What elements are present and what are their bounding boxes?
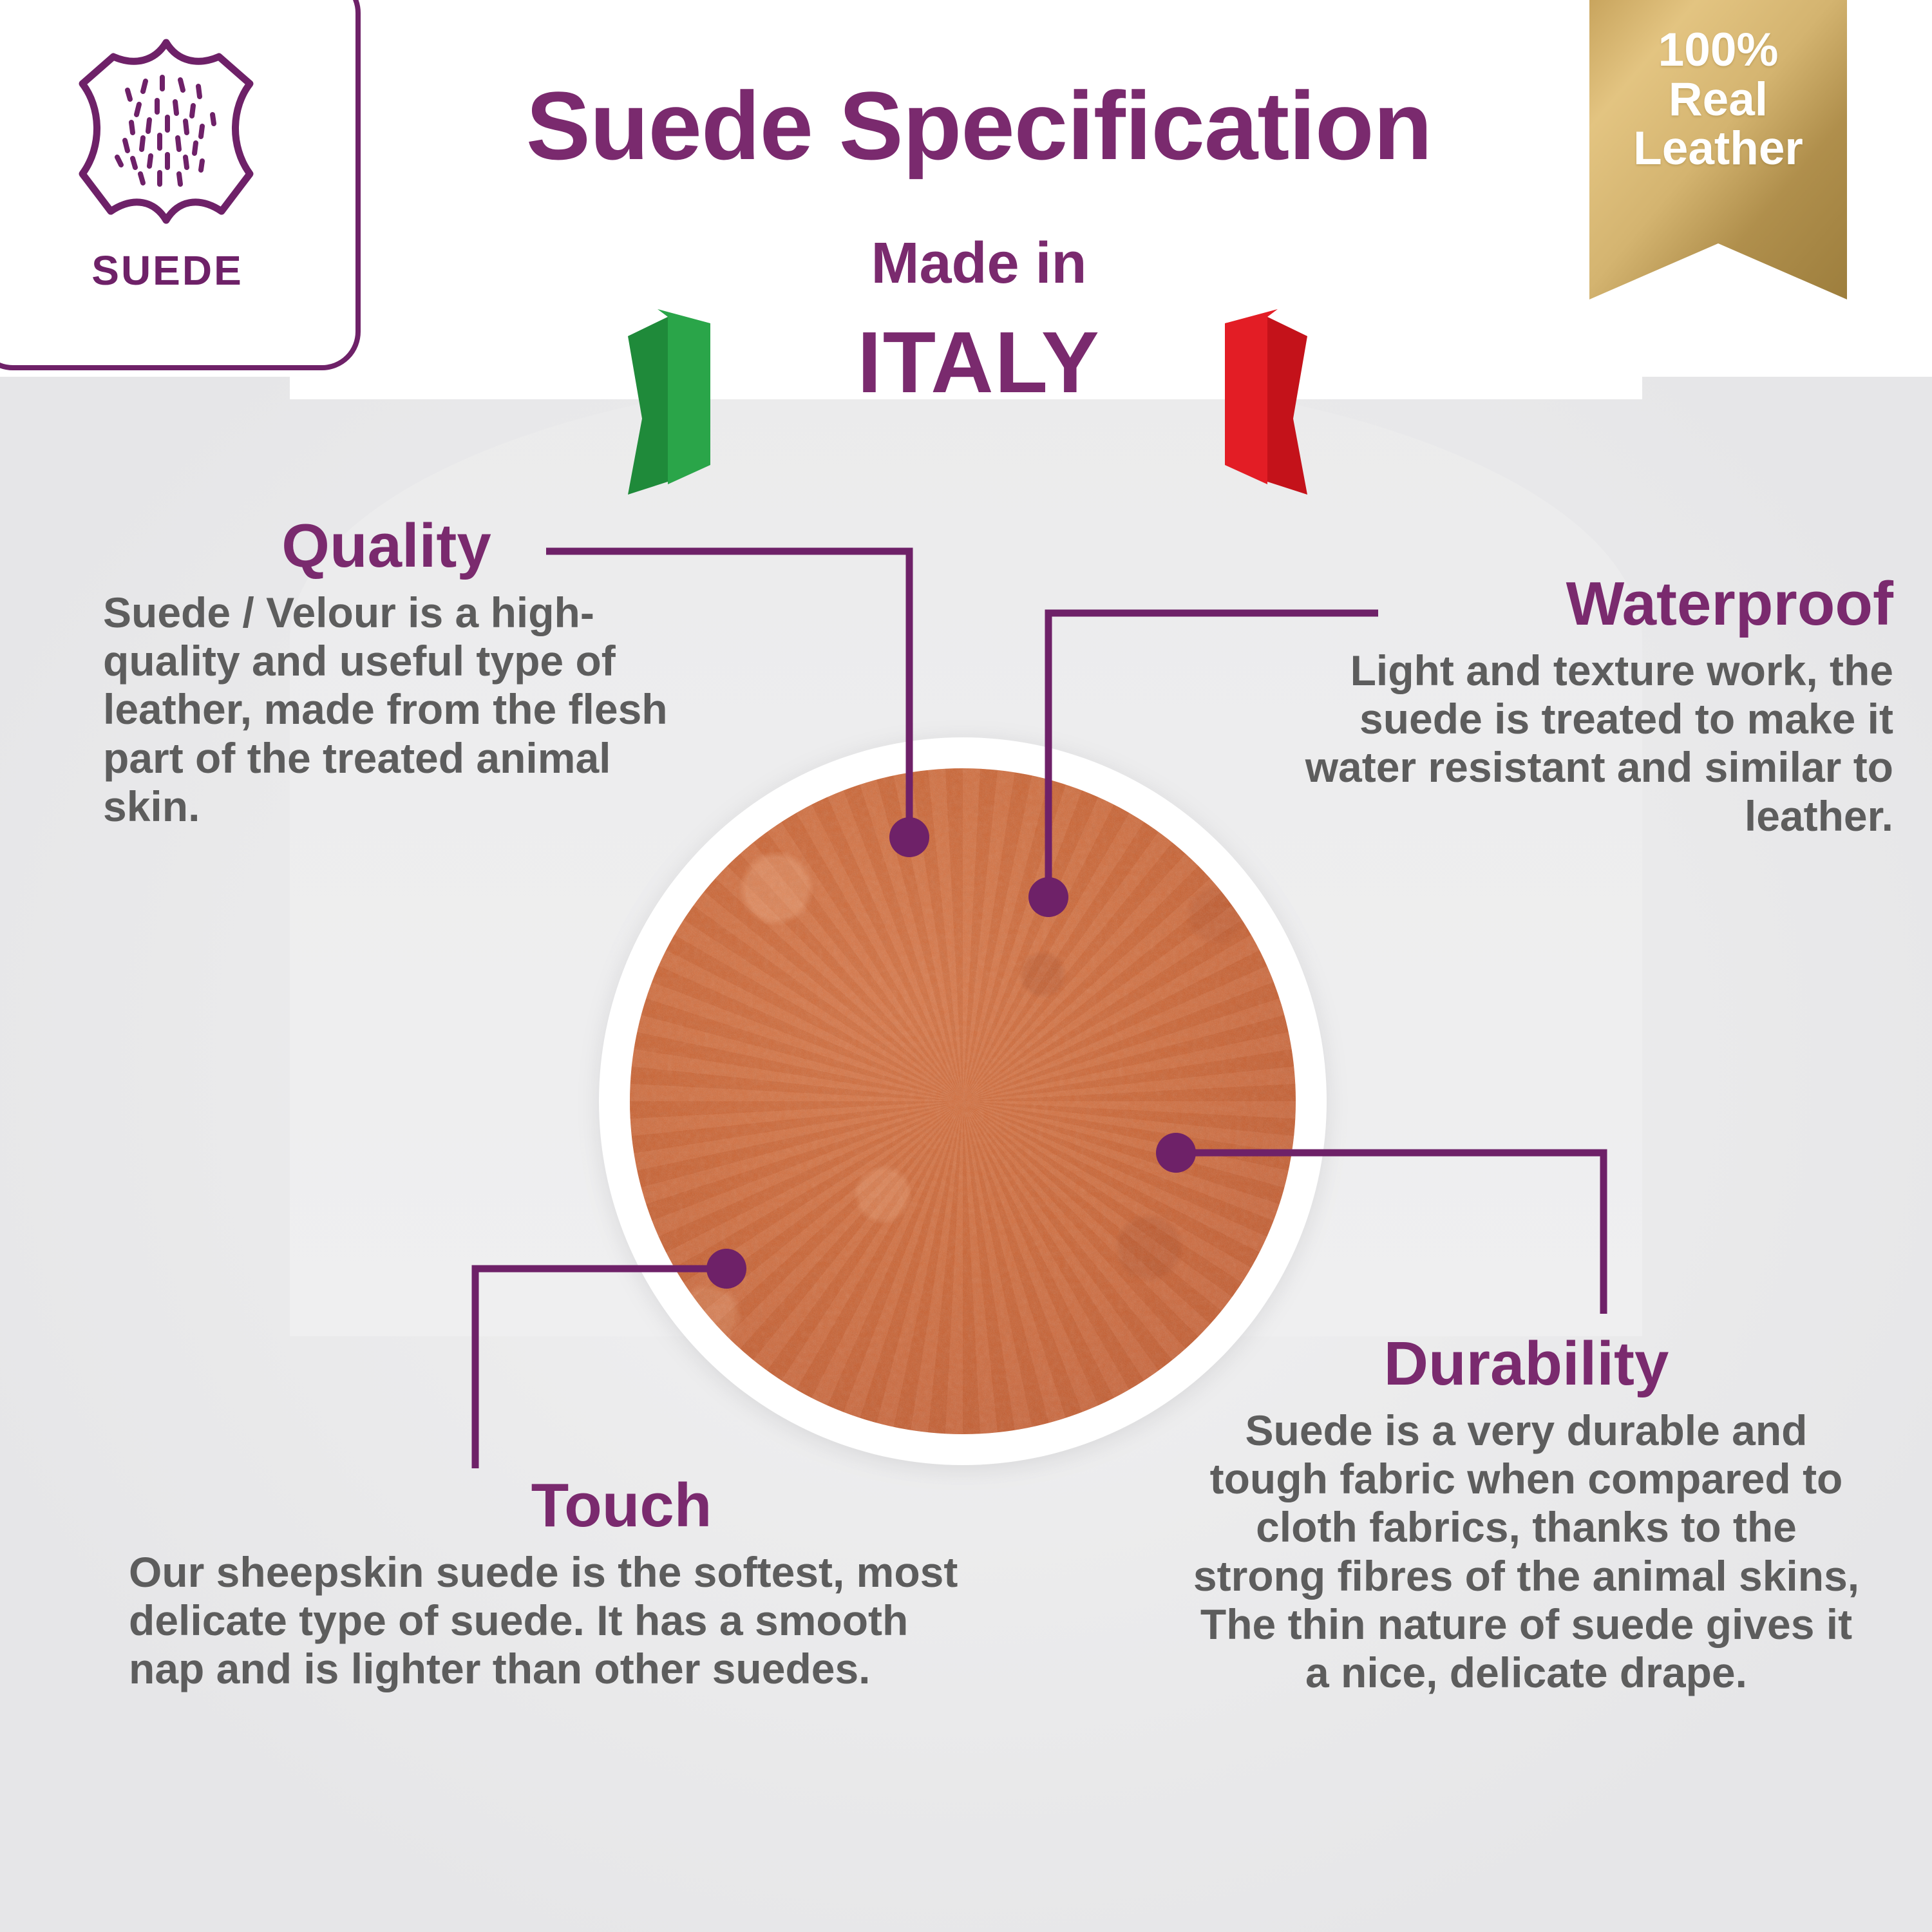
country-label: ITALY — [399, 312, 1558, 412]
suede-logo-box: SUEDE — [0, 0, 361, 370]
callout-waterproof-body: Light and texture work, the suede is tre… — [1288, 647, 1893, 840]
real-leather-badge: 100% Real Leather — [1589, 0, 1847, 299]
italy-flag-red-ribbon — [1159, 309, 1307, 496]
callout-waterproof-title: Waterproof — [1288, 573, 1893, 635]
callout-touch: Touch Our sheepskin suede is the softest… — [129, 1475, 966, 1694]
badge-line-2: Real — [1589, 75, 1847, 125]
callout-quality-body: Suede / Velour is a high-quality and use… — [103, 589, 670, 831]
callout-durability-body: Suede is a very durable and tough fabric… — [1185, 1406, 1868, 1697]
suede-logo-label: SUEDE — [0, 247, 355, 294]
made-in-label: Made in — [399, 231, 1558, 297]
badge-text: 100% Real Leather — [1589, 26, 1847, 174]
callout-touch-body: Our sheepskin suede is the softest, most… — [129, 1548, 966, 1694]
callout-durability-title: Durability — [1185, 1333, 1868, 1395]
page-title: Suede Specification — [399, 77, 1558, 174]
badge-line-3: Leather — [1589, 124, 1847, 174]
leather-hide-icon — [63, 37, 269, 224]
callout-quality-title: Quality — [103, 515, 670, 577]
callout-quality: Quality Suede / Velour is a high-quality… — [103, 515, 670, 831]
callout-durability: Durability Suede is a very durable and t… — [1185, 1333, 1868, 1697]
infographic-canvas: SUEDE Suede Specification Made in ITALY — [0, 0, 1932, 1932]
italy-flag-green-ribbon — [628, 309, 776, 496]
badge-line-1: 100% — [1589, 26, 1847, 75]
callout-waterproof: Waterproof Light and texture work, the s… — [1288, 573, 1893, 840]
callout-touch-title: Touch — [129, 1475, 966, 1537]
